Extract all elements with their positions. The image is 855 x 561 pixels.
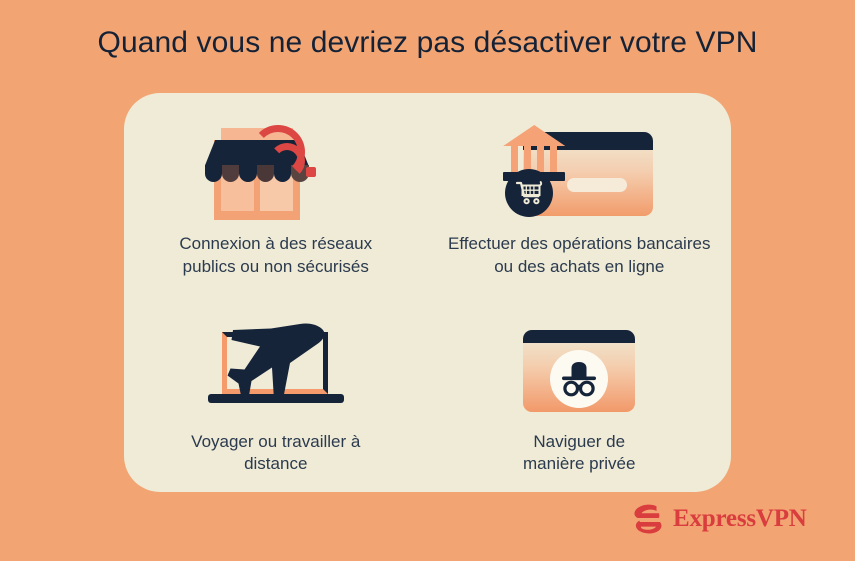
incognito-hat-glasses-icon bbox=[556, 359, 602, 399]
reason-label-line2: distance bbox=[191, 453, 360, 476]
reason-item-public-networks: Connexion à des réseaux publics ou non s… bbox=[124, 93, 428, 293]
shop-wifi-icon bbox=[201, 121, 351, 225]
reason-label-line2: manière privée bbox=[523, 453, 635, 476]
airplane-icon bbox=[226, 320, 334, 402]
laptop-airplane-icon bbox=[208, 319, 344, 423]
credit-card-bank-icon bbox=[499, 121, 659, 225]
reason-label-line1: Connexion à des réseaux bbox=[179, 233, 372, 256]
content-card: Connexion à des réseaux publics ou non s… bbox=[124, 93, 731, 492]
reason-label-line2: publics ou non sécurisés bbox=[179, 256, 372, 279]
infographic-page: Quand vous ne devriez pas désactiver vot… bbox=[0, 0, 855, 561]
expressvpn-logo-mark bbox=[631, 503, 665, 535]
reason-label-line1: Naviguer de bbox=[523, 431, 635, 454]
incognito-badge bbox=[550, 350, 608, 408]
wifi-signal-icon bbox=[305, 131, 349, 179]
reason-label-line1: Voyager ou travailler à bbox=[191, 431, 360, 454]
reason-label: Naviguer de manière privée bbox=[523, 431, 635, 476]
page-title: Quand vous ne devriez pas désactiver vot… bbox=[0, 26, 855, 60]
reason-item-banking-shopping: Effectuer des opérations bancaires ou de… bbox=[428, 93, 732, 293]
reason-label-line1: Effectuer des opérations bancaires bbox=[448, 233, 710, 256]
credit-card-slot bbox=[567, 178, 627, 192]
reason-label-line2: ou des achats en ligne bbox=[448, 256, 710, 279]
reason-item-private-browsing: Naviguer de manière privée bbox=[428, 293, 732, 493]
shopping-cart-icon bbox=[505, 169, 553, 217]
reason-label: Effectuer des opérations bancaires ou de… bbox=[448, 233, 710, 278]
browser-title-bar bbox=[523, 330, 635, 343]
reason-label: Connexion à des réseaux publics ou non s… bbox=[179, 233, 372, 278]
reasons-grid: Connexion à des réseaux publics ou non s… bbox=[124, 93, 731, 492]
reason-item-travel-remote-work: Voyager ou travailler à distance bbox=[124, 293, 428, 493]
reason-label: Voyager ou travailler à distance bbox=[191, 431, 360, 476]
incognito-browser-icon bbox=[523, 319, 635, 423]
expressvpn-logo: ExpressVPN bbox=[631, 503, 807, 535]
expressvpn-wordmark: ExpressVPN bbox=[673, 505, 807, 533]
